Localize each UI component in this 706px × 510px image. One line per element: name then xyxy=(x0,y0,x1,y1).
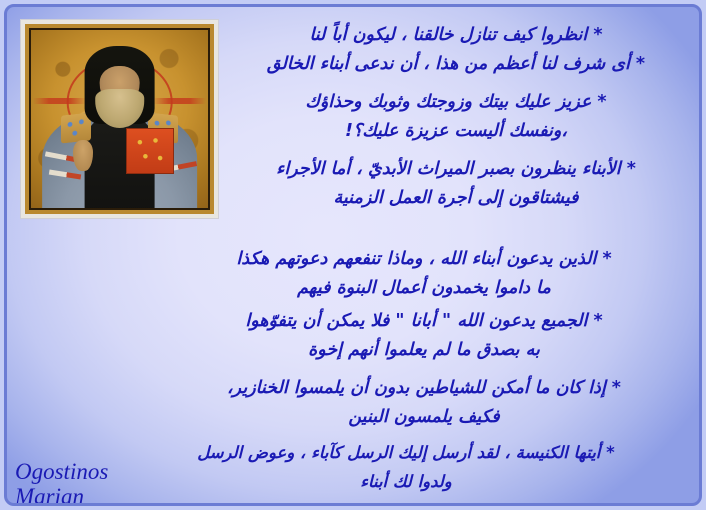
verse-line: * الأبناء ينظرون بصبر الميراث الأبديّ ، … xyxy=(221,155,691,184)
verse-line: * أى شرف لنا أعظم من هذا ، أن ندعى أبناء… xyxy=(221,50,691,79)
verse-line: فكيف يلمسون البنين xyxy=(157,403,691,432)
poster-card: * انظروا كيف تنازل خالقنا ، ليكون أباً ل… xyxy=(0,0,706,510)
signature-text: Ogostinos Marian xyxy=(15,459,108,506)
verse-line: * أيتها الكنيسة ، لقد أرسل إليك الرسل كآ… xyxy=(117,439,695,468)
verse-line: * الجميع يدعون الله " أبانا " فلا يمكن أ… xyxy=(157,307,691,336)
verse-line: * انظروا كيف تنازل خالقنا ، ليكون أباً ل… xyxy=(221,21,691,50)
verse-line: به بصدق ما لم يعلموا أنهم إخوة xyxy=(157,336,691,365)
verse-line: * إذا كان ما أمكن للشياطين بدون أن يلمسو… xyxy=(157,374,691,403)
verse-group-bottom: * أيتها الكنيسة ، لقد أرسل إليك الرسل كآ… xyxy=(117,439,695,496)
verse-group-lower: * الجميع يدعون الله " أبانا " فلا يمكن أ… xyxy=(157,307,691,431)
verse-line: * عزيز عليك بيتك وزوجتك وثوبك وحذاؤك xyxy=(221,88,691,117)
spacer xyxy=(221,78,691,88)
icon-gold-bevel xyxy=(25,24,214,214)
verse-line: * الذين يدعون أبناء الله ، وماذا تنفعهم … xyxy=(157,245,691,274)
gospel-book-icon xyxy=(126,128,174,175)
verse-line: ولدوا لك أبناء xyxy=(117,468,695,497)
verse-group-top: * انظروا كيف تنازل خالقنا ، ليكون أباً ل… xyxy=(221,21,691,212)
verse-line: ،ونفسك أليست عزيزة عليك؟! xyxy=(221,117,691,146)
verse-line: ما داموا يخمدون أعمال البنوة فيهم xyxy=(157,274,691,303)
saint-icon-image xyxy=(20,19,219,219)
icon-inscription-left xyxy=(33,98,86,104)
poster-frame: * انظروا كيف تنازل خالقنا ، ليكون أباً ل… xyxy=(4,4,702,506)
icon-artwork xyxy=(31,30,208,208)
verse-line: فيشتاقون إلى أجرة العمل الزمنية xyxy=(221,184,691,213)
icon-inscription-right xyxy=(153,98,206,104)
blessing-hand xyxy=(73,140,92,170)
spacer xyxy=(157,364,691,374)
spacer xyxy=(221,145,691,155)
verse-group-middle: * الذين يدعون أبناء الله ، وماذا تنفعهم … xyxy=(157,245,691,302)
